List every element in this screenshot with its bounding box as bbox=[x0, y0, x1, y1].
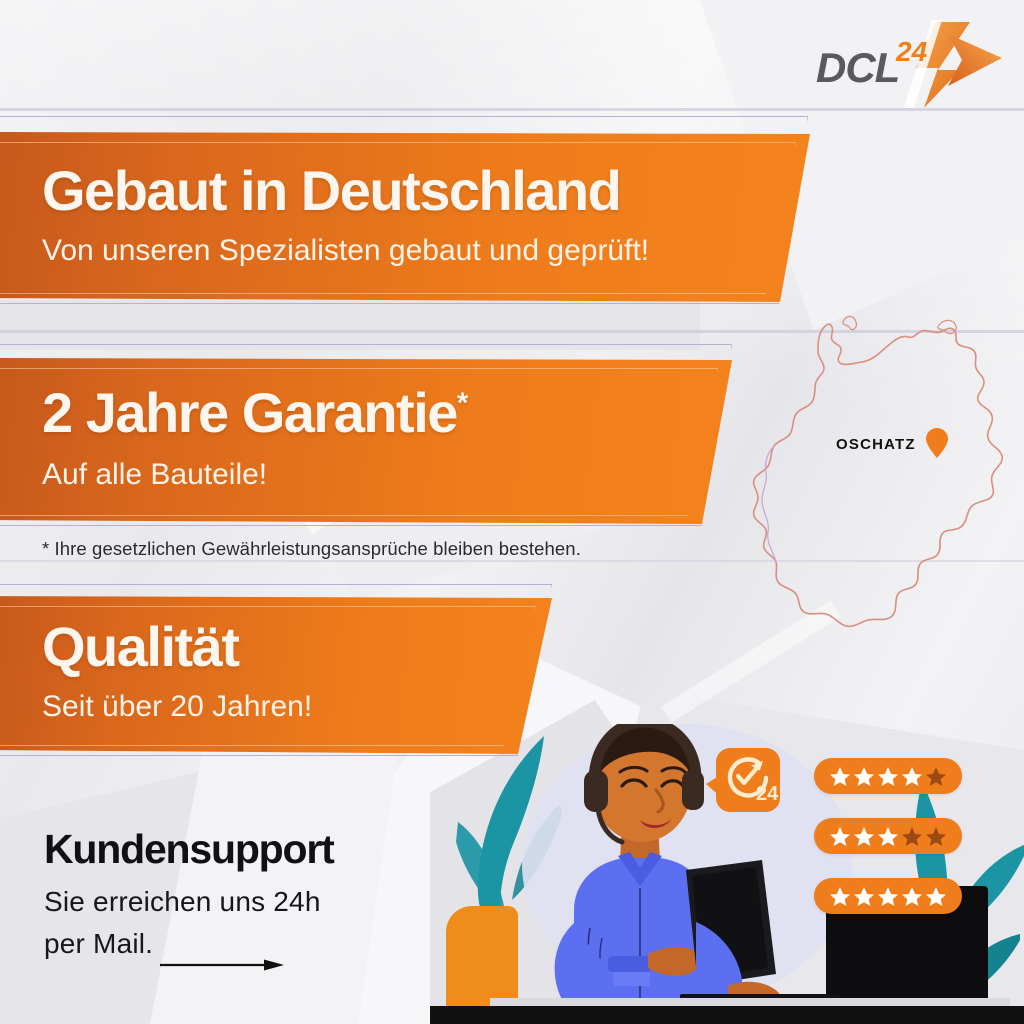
brand-logo[interactable]: DCL 24 bbox=[816, 18, 1006, 110]
banner-title-asterisk: * bbox=[457, 387, 467, 419]
poster-canvas: DCL 24 Gebaut in Deutschland Von unseren… bbox=[0, 0, 1024, 1024]
banner-title: 2 Jahre Garantie* bbox=[42, 380, 467, 445]
location-pin-icon bbox=[926, 428, 948, 458]
logo-wordmark: DCL bbox=[816, 44, 899, 92]
stars-5-of-5 bbox=[828, 885, 948, 907]
rating-row-1 bbox=[814, 758, 962, 794]
rating-row-3 bbox=[814, 878, 962, 914]
warranty-footnote: * Ihre gesetzlichen Gewährleistungsanspr… bbox=[42, 538, 581, 560]
support-illustration: 24 bbox=[430, 690, 1024, 1024]
rating-row-2 bbox=[814, 818, 962, 854]
stars-3-of-5 bbox=[828, 825, 948, 847]
banner-title: Gebaut in Deutschland bbox=[42, 158, 620, 223]
banner-gebaut-in-deutschland[interactable]: Gebaut in Deutschland Von unseren Spezia… bbox=[0, 112, 840, 312]
banner-subtitle: Auf alle Bauteile! bbox=[42, 458, 267, 492]
badge-24h-bubble[interactable]: 24 bbox=[706, 748, 780, 818]
svg-text:24: 24 bbox=[756, 783, 779, 805]
logo-superscript: 24 bbox=[896, 36, 927, 68]
banner-title: Qualität bbox=[42, 614, 238, 679]
support-heading: Kundensupport bbox=[44, 826, 334, 873]
stars-4-of-5 bbox=[828, 765, 948, 787]
banner-title-text: 2 Jahre Garantie bbox=[42, 381, 457, 444]
clock-check-icon: 24 bbox=[716, 748, 780, 812]
support-line-2: per Mail. bbox=[44, 928, 153, 960]
banner-2-jahre-garantie[interactable]: 2 Jahre Garantie* Auf alle Bauteile! bbox=[0, 340, 770, 532]
desk-surface bbox=[430, 1006, 1024, 1024]
map-city-label: OSCHATZ bbox=[836, 436, 916, 453]
desk-shadow bbox=[490, 998, 1010, 1006]
germany-map-outline bbox=[744, 300, 1016, 648]
banner-subtitle: Von unseren Spezialisten gebaut und gepr… bbox=[42, 234, 649, 268]
support-line-1: Sie erreichen uns 24h bbox=[44, 886, 321, 918]
banner-subtitle: Seit über 20 Jahren! bbox=[42, 690, 312, 724]
arrow-right-icon bbox=[160, 958, 284, 972]
